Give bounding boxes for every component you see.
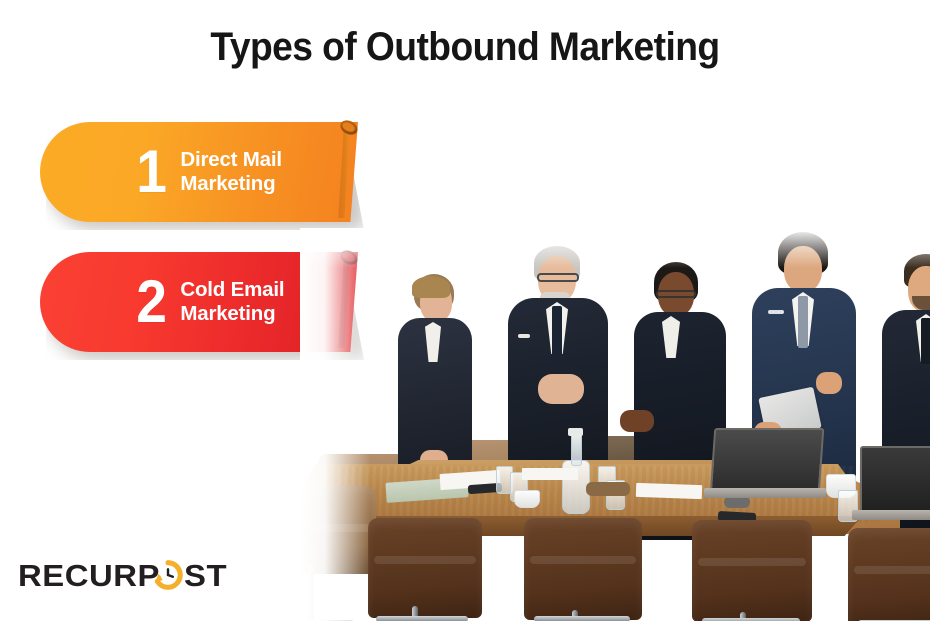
coffee-cup [514, 490, 540, 508]
recurpost-logo[interactable]: RECURP ST [18, 557, 225, 593]
chair-base [376, 616, 468, 621]
laptop-base [852, 510, 930, 520]
list-item-1: 1 Direct Mail Marketing [40, 122, 358, 222]
logo-text-before: RECURP [18, 560, 160, 591]
item-label: Direct Mail Marketing [180, 148, 281, 196]
item-label: Cold Email Marketing [180, 278, 284, 326]
chair-near [524, 518, 642, 620]
clock-refresh-icon [153, 560, 183, 590]
chair-near [368, 518, 482, 618]
laptop-screen [860, 446, 930, 516]
chair-base [534, 616, 630, 621]
item-number: 2 [136, 272, 165, 332]
banner-content: 1 Direct Mail Marketing [40, 122, 340, 222]
bottle-cap [568, 428, 583, 436]
item-number: 1 [136, 142, 165, 202]
chair-near [848, 528, 930, 621]
business-meeting-photo [300, 228, 930, 621]
paper-sheet [636, 483, 702, 499]
page-title: Types of Outbound Marketing [33, 25, 898, 70]
snack-tray [586, 482, 630, 496]
laptop-screen [710, 428, 825, 494]
logo-text-after: ST [184, 560, 227, 591]
paper-sheet [522, 468, 578, 480]
photo-top-fade [300, 228, 930, 268]
glasses-icon [537, 273, 579, 282]
chair-near [692, 520, 812, 621]
glasses-icon [656, 290, 696, 298]
water-bottle-neck [571, 432, 582, 466]
photo-edge-fade [300, 228, 370, 621]
infographic-canvas: Types of Outbound Marketing 1 Direct Mai… [0, 0, 930, 621]
banner-content: 2 Cold Email Marketing [40, 252, 340, 352]
laptop-base [704, 488, 826, 498]
